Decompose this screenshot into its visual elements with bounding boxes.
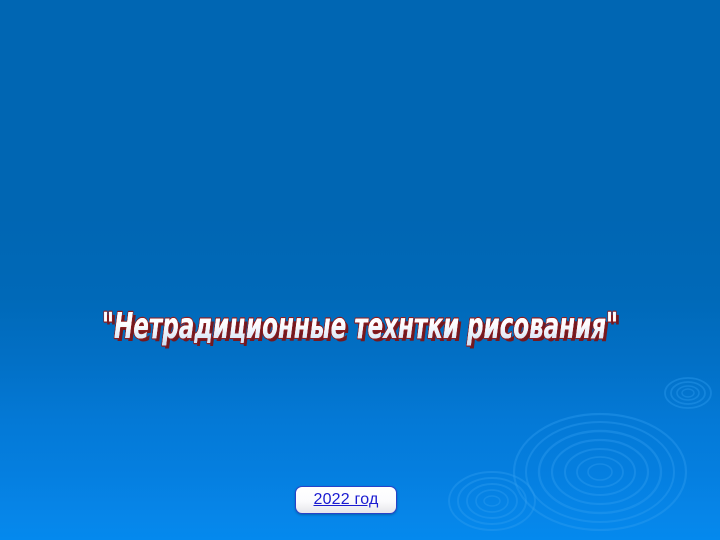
ripple-medium-left-icon [449, 472, 535, 530]
year-link-label[interactable]: 2022 год [313, 491, 378, 509]
ripple-small-topright-icon [665, 378, 711, 408]
wordart-title: "Нетрадиционные технтки рисования" "Нетр… [0, 300, 720, 356]
ripple-large-center-icon [514, 414, 686, 530]
water-ripples-decoration [0, 0, 720, 540]
presentation-slide: "Нетрадиционные технтки рисования" "Нетр… [0, 0, 720, 540]
wordart-title-text: "Нетрадиционные технтки рисования" [102, 306, 618, 347]
year-link-button[interactable]: 2022 год [295, 486, 397, 514]
